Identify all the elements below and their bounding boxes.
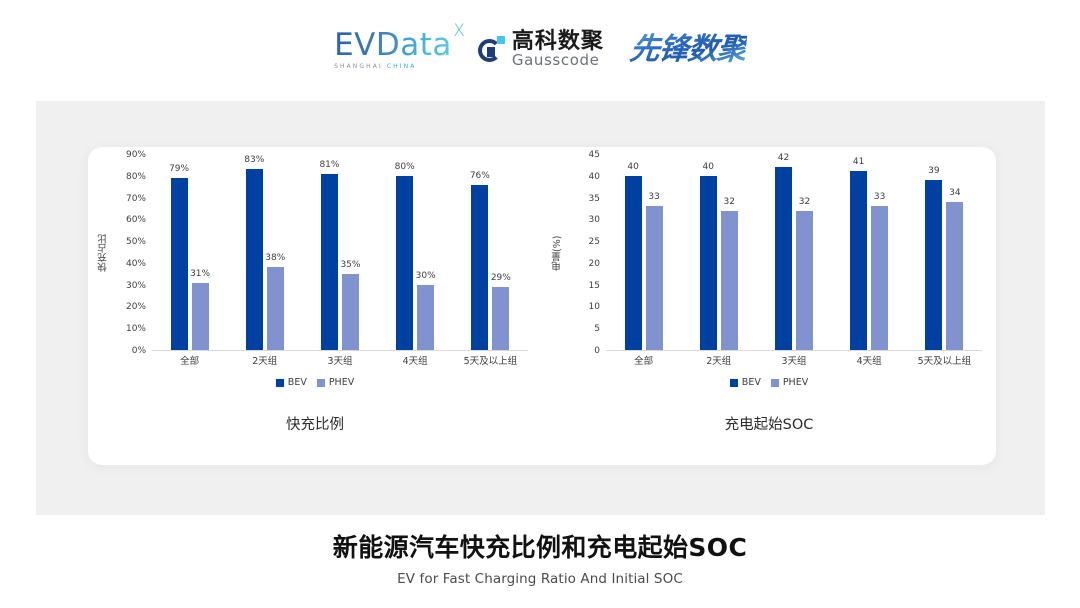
y-tick-left-2: 20% bbox=[126, 302, 146, 312]
x-tick-label-right-3: 4天组 bbox=[837, 353, 901, 373]
evdata-logo: EVData X SHANGHAI CHINA bbox=[334, 30, 452, 72]
bar-phev[interactable]: 35% bbox=[342, 274, 359, 350]
bar-bev[interactable]: 80% bbox=[396, 176, 413, 350]
legend-swatch-phev-icon bbox=[771, 379, 779, 387]
y-tick-right-0: 0 bbox=[594, 346, 600, 356]
bar-phev[interactable]: 31% bbox=[192, 283, 209, 351]
bar-phev[interactable]: 34 bbox=[946, 202, 963, 350]
evdata-tagline-country: CHINA bbox=[387, 63, 417, 70]
y-tick-right-3: 15 bbox=[589, 281, 600, 291]
x-tick-label-left-3: 4天组 bbox=[383, 353, 447, 373]
y-tick-right-1: 5 bbox=[594, 324, 600, 334]
y-tick-left-0: 0% bbox=[132, 346, 146, 356]
bar-bev[interactable]: 42 bbox=[775, 167, 792, 350]
legend-label-phev: PHEV bbox=[329, 377, 354, 388]
y-tick-left-7: 70% bbox=[126, 194, 146, 204]
bar-value-label: 41 bbox=[853, 157, 864, 167]
y-tick-left-8: 80% bbox=[126, 172, 146, 182]
chart-fast-charging-ratio: 快充占比 0%10%20%30%40%50%60%70%80%90% 79%31… bbox=[88, 155, 542, 455]
footer-title-cn: 新能源汽车快充比例和充电起始SOC bbox=[0, 528, 1080, 564]
bar-value-label: 33 bbox=[648, 192, 659, 202]
bar-bev[interactable]: 40 bbox=[700, 176, 717, 350]
slide-page: EVData X SHANGHAI CHINA 高科数聚 Gausscode 先… bbox=[0, 0, 1080, 608]
bar-phev[interactable]: 32 bbox=[796, 211, 813, 350]
plot-area-right: 电量(%) 051015202530354045 403340324232413… bbox=[542, 155, 996, 371]
y-tick-left-6: 60% bbox=[126, 215, 146, 225]
bar-value-label: 42 bbox=[778, 153, 789, 163]
bar-value-label: 40 bbox=[703, 162, 714, 172]
bar-value-label: 76% bbox=[470, 171, 490, 181]
bar-value-label: 33 bbox=[874, 192, 885, 202]
evdata-superscript-x-icon: X bbox=[453, 23, 465, 40]
bar-value-label: 31% bbox=[190, 269, 210, 279]
gausscode-cyan-square-icon bbox=[497, 36, 505, 44]
bar-group: 79%31% bbox=[158, 155, 222, 350]
gausscode-navy-square-icon bbox=[487, 47, 495, 57]
bar-value-label: 38% bbox=[265, 253, 285, 263]
bar-bev[interactable]: 39 bbox=[925, 180, 942, 350]
footer-title-en: EV for Fast Charging Ratio And Initial S… bbox=[0, 571, 1080, 587]
bars-right: 40334032423241333934 bbox=[606, 155, 982, 351]
x-axis-labels-left: 全部2天组3天组4天组5天及以上组 bbox=[152, 353, 528, 373]
footer-titles: 新能源汽车快充比例和充电起始SOC EV for Fast Charging R… bbox=[0, 528, 1080, 587]
bar-value-label: 32 bbox=[799, 197, 810, 207]
bar-group: 4033 bbox=[612, 155, 676, 350]
y-tick-left-4: 40% bbox=[126, 259, 146, 269]
y-tick-right-5: 25 bbox=[589, 237, 600, 247]
y-tick-left-5: 50% bbox=[126, 237, 146, 247]
legend-item-phev[interactable]: PHEV bbox=[317, 377, 354, 388]
bar-phev[interactable]: 32 bbox=[721, 211, 738, 350]
bar-value-label: 40 bbox=[627, 162, 638, 172]
bar-group: 80%30% bbox=[383, 155, 447, 350]
y-tick-right-8: 40 bbox=[589, 172, 600, 182]
x-tick-label-right-4: 5天及以上组 bbox=[912, 353, 976, 373]
chart-title-left: 快充比例 bbox=[88, 413, 542, 434]
gausscode-text: 高科数聚 Gausscode bbox=[512, 30, 604, 69]
bar-value-label: 29% bbox=[491, 273, 511, 283]
legend-label-bev: BEV bbox=[742, 377, 761, 388]
bar-bev[interactable]: 81% bbox=[321, 174, 338, 350]
evdata-tagline-city: SHANGHAI bbox=[334, 63, 383, 70]
bar-value-label: 30% bbox=[416, 271, 436, 281]
bar-value-label: 35% bbox=[340, 260, 360, 270]
legend-left: BEV PHEV bbox=[88, 377, 542, 388]
x-tick-label-left-4: 5天及以上组 bbox=[458, 353, 522, 373]
legend-swatch-bev-icon bbox=[730, 379, 738, 387]
y-tick-right-2: 10 bbox=[589, 302, 600, 312]
x-tick-label-left-1: 2天组 bbox=[233, 353, 297, 373]
evdata-wordmark: EVData bbox=[334, 30, 452, 61]
bar-value-label: 79% bbox=[169, 164, 189, 174]
gausscode-mark-icon bbox=[478, 36, 505, 63]
x-tick-label-right-1: 2天组 bbox=[687, 353, 751, 373]
legend-swatch-bev-icon bbox=[276, 379, 284, 387]
legend-item-bev[interactable]: BEV bbox=[730, 377, 761, 388]
logo-bar: EVData X SHANGHAI CHINA 高科数聚 Gausscode 先… bbox=[0, 24, 1080, 72]
legend-label-bev: BEV bbox=[288, 377, 307, 388]
evdata-tagline: SHANGHAI CHINA bbox=[334, 64, 452, 70]
bar-value-label: 39 bbox=[928, 166, 939, 176]
y-tick-left-3: 30% bbox=[126, 281, 146, 291]
y-tick-left-9: 90% bbox=[126, 150, 146, 160]
bar-group: 4032 bbox=[687, 155, 751, 350]
legend-right: BEV PHEV bbox=[542, 377, 996, 388]
plot-area-left: 快充占比 0%10%20%30%40%50%60%70%80%90% 79%31… bbox=[88, 155, 542, 371]
xianfeng-logo: 先锋数聚 bbox=[627, 24, 748, 72]
x-axis-labels-right: 全部2天组3天组4天组5天及以上组 bbox=[606, 353, 982, 373]
x-tick-label-right-0: 全部 bbox=[612, 353, 676, 373]
legend-swatch-phev-icon bbox=[317, 379, 325, 387]
y-tick-right-6: 30 bbox=[589, 215, 600, 225]
gausscode-name-en: Gausscode bbox=[512, 53, 604, 69]
bars-left: 79%31%83%38%81%35%80%30%76%29% bbox=[152, 155, 528, 351]
bar-group: 4232 bbox=[762, 155, 826, 350]
y-axis-ticks-right: 051015202530354045 bbox=[564, 155, 604, 351]
chart-title-right: 充电起始SOC bbox=[542, 413, 996, 434]
bar-phev[interactable]: 33 bbox=[646, 206, 663, 350]
legend-item-bev[interactable]: BEV bbox=[276, 377, 307, 388]
y-axis-ticks-left: 0%10%20%30%40%50%60%70%80%90% bbox=[110, 155, 150, 351]
bar-value-label: 83% bbox=[244, 155, 264, 165]
bar-phev[interactable]: 29% bbox=[492, 287, 509, 350]
x-tick-label-right-2: 3天组 bbox=[762, 353, 826, 373]
bar-value-label: 80% bbox=[395, 162, 415, 172]
x-tick-label-left-2: 3天组 bbox=[308, 353, 372, 373]
bar-group: 81%35% bbox=[308, 155, 372, 350]
y-tick-left-1: 10% bbox=[126, 324, 146, 334]
bar-bev[interactable]: 40 bbox=[625, 176, 642, 350]
bar-phev[interactable]: 30% bbox=[417, 285, 434, 350]
charts-container: 快充占比 0%10%20%30%40%50%60%70%80%90% 79%31… bbox=[88, 155, 996, 455]
bar-bev[interactable]: 79% bbox=[171, 178, 188, 350]
bar-group: 76%29% bbox=[458, 155, 522, 350]
bar-value-label: 32 bbox=[724, 197, 735, 207]
y-tick-right-4: 20 bbox=[589, 259, 600, 269]
bar-bev[interactable]: 41 bbox=[850, 171, 867, 350]
bar-group: 4133 bbox=[837, 155, 901, 350]
bar-value-label: 81% bbox=[319, 160, 339, 170]
bar-value-label: 34 bbox=[949, 188, 960, 198]
bar-phev[interactable]: 33 bbox=[871, 206, 888, 350]
y-tick-right-9: 45 bbox=[589, 150, 600, 160]
bar-bev[interactable]: 83% bbox=[246, 169, 263, 350]
legend-item-phev[interactable]: PHEV bbox=[771, 377, 808, 388]
legend-label-phev: PHEV bbox=[783, 377, 808, 388]
bar-group: 83%38% bbox=[233, 155, 297, 350]
bar-group: 3934 bbox=[912, 155, 976, 350]
bar-phev[interactable]: 38% bbox=[267, 267, 284, 350]
x-tick-label-left-0: 全部 bbox=[158, 353, 222, 373]
bar-bev[interactable]: 76% bbox=[471, 185, 488, 351]
y-tick-right-7: 35 bbox=[589, 194, 600, 204]
gausscode-logo: 高科数聚 Gausscode bbox=[478, 30, 604, 72]
gausscode-name-cn: 高科数聚 bbox=[512, 30, 604, 53]
chart-initial-soc: 电量(%) 051015202530354045 403340324232413… bbox=[542, 155, 996, 455]
